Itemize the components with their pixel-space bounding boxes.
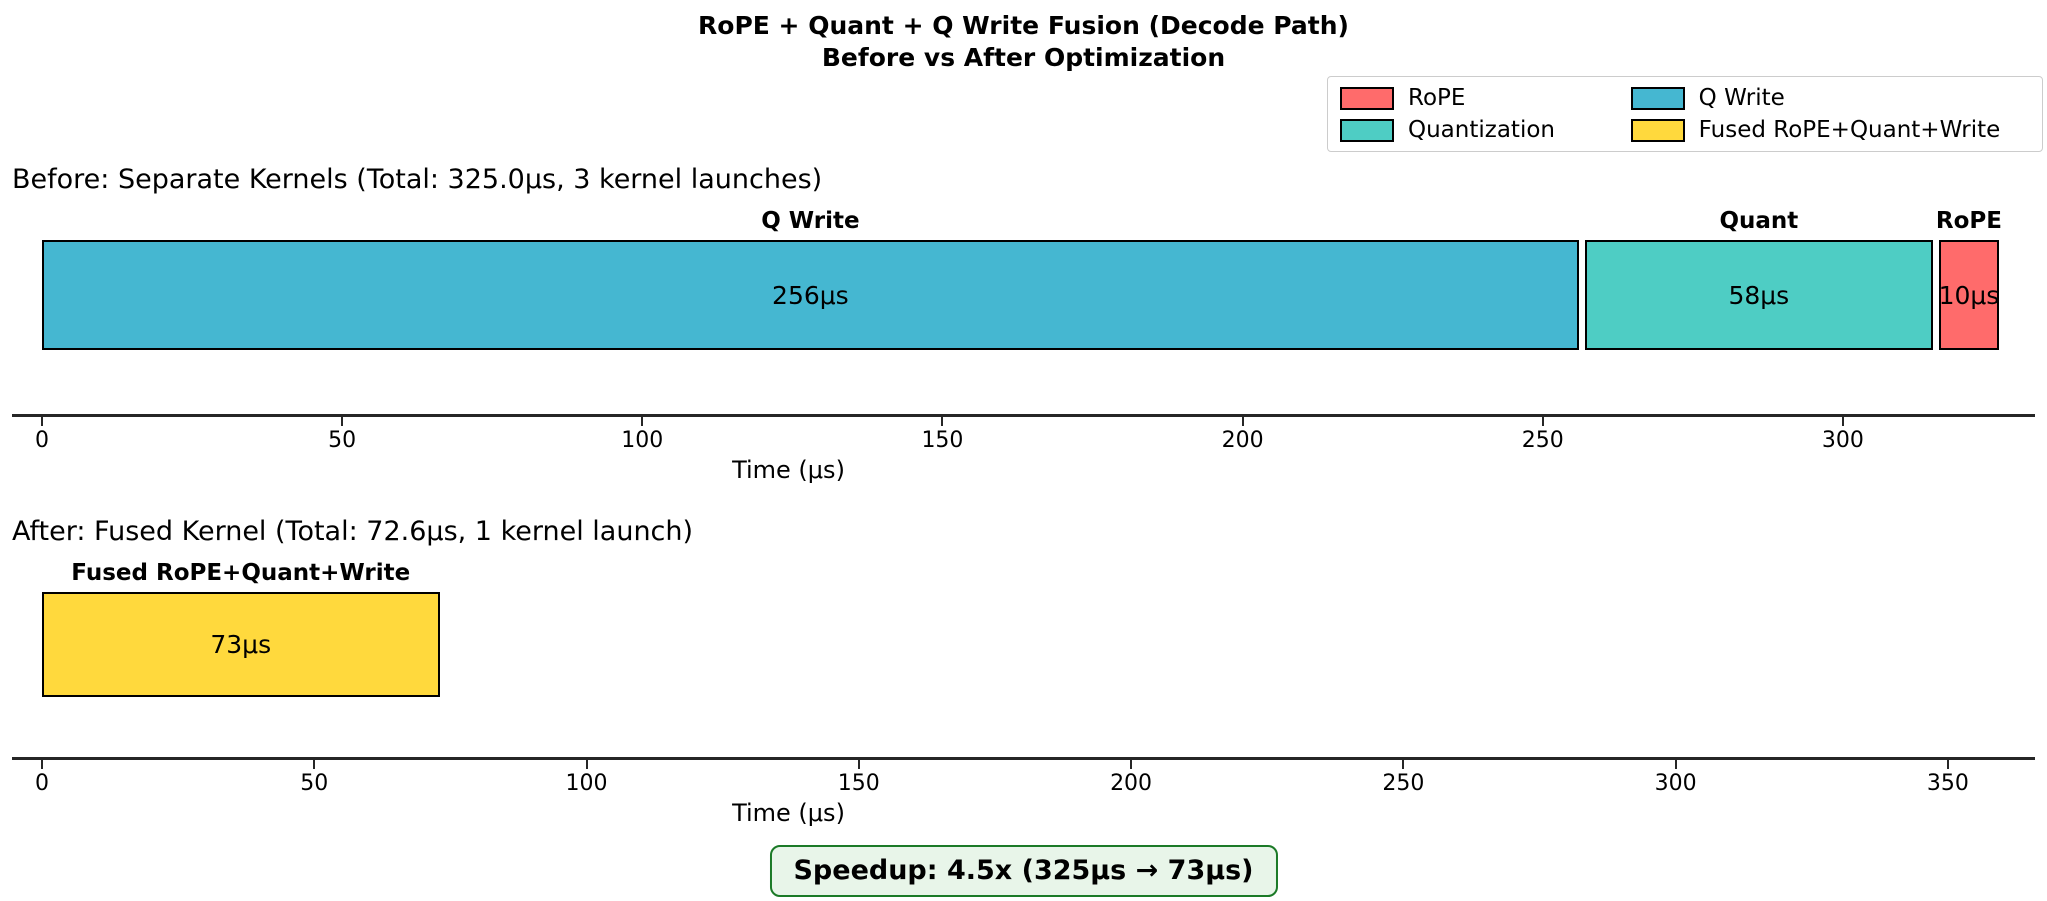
legend-entry-rope: RoPE xyxy=(1340,85,1587,111)
legend-entry-quantization: Quantization xyxy=(1340,117,1587,143)
bar-top-label: RoPE xyxy=(1936,208,2002,234)
axis-line-before xyxy=(12,414,2035,417)
x-tick-label: 150 xyxy=(921,428,963,453)
x-tick xyxy=(1542,417,1544,426)
bar-segment: 256μs xyxy=(42,240,1579,350)
panel-heading-after: After: Fused Kernel (Total: 72.6μs, 1 ke… xyxy=(12,516,693,547)
axis-line-after xyxy=(12,757,2035,760)
x-tick-label: 250 xyxy=(1382,771,1424,796)
panel-heading-before: Before: Separate Kernels (Total: 325.0μs… xyxy=(12,164,822,195)
x-tick-label: 100 xyxy=(566,771,608,796)
x-tick-label: 50 xyxy=(300,771,328,796)
legend-label-rope: RoPE xyxy=(1408,85,1465,111)
legend-entry-fused: Fused RoPE+Quant+Write xyxy=(1631,117,2032,143)
x-tick-label: 350 xyxy=(1927,771,1969,796)
x-tick xyxy=(586,760,588,769)
legend-label-quantization: Quantization xyxy=(1408,117,1555,143)
chart-legend: RoPE Q Write Quantization Fused RoPE+Qua… xyxy=(1327,76,2043,152)
bar-top-label: Fused RoPE+Quant+Write xyxy=(71,560,410,586)
bars-after: 73μsFused RoPE+Quant+Write xyxy=(0,552,2047,782)
chart-canvas: RoPE + Quant + Q Write Fusion (Decode Pa… xyxy=(0,0,2047,901)
legend-label-q-write: Q Write xyxy=(1699,85,1785,111)
chart-title: RoPE + Quant + Q Write Fusion (Decode Pa… xyxy=(0,10,2047,74)
plot-area-before: 256μsQ Write58μsQuant10μsRoPE xyxy=(0,200,2047,430)
x-tick xyxy=(1675,760,1677,769)
bar-value-label: 10μs xyxy=(1939,281,2000,310)
x-tick xyxy=(1130,760,1132,769)
bar-segment: 10μs xyxy=(1939,240,1999,350)
bar-value-label: 256μs xyxy=(772,281,849,310)
x-tick xyxy=(1242,417,1244,426)
bar-top-label: Q Write xyxy=(761,208,859,234)
bar-segment: 58μs xyxy=(1585,240,1933,350)
bar-value-label: 73μs xyxy=(210,630,271,659)
x-tick-label: 100 xyxy=(621,428,663,453)
legend-entry-q-write: Q Write xyxy=(1631,85,2032,111)
x-tick xyxy=(1842,417,1844,426)
plot-area-after: 73μsFused RoPE+Quant+Write xyxy=(0,552,2047,782)
bar-value-label: 58μs xyxy=(1728,281,1789,310)
bar-top-label: Quant xyxy=(1719,208,1798,234)
legend-swatch-q-write xyxy=(1631,87,1685,110)
x-tick xyxy=(1402,760,1404,769)
x-tick-label: 150 xyxy=(838,771,880,796)
x-tick-label: 50 xyxy=(328,428,356,453)
axis-title-before: Time (μs) xyxy=(0,456,1812,484)
x-tick xyxy=(41,760,43,769)
x-tick-label: 250 xyxy=(1522,428,1564,453)
x-tick xyxy=(858,760,860,769)
x-tick xyxy=(313,760,315,769)
x-tick-label: 0 xyxy=(35,771,49,796)
x-tick-label: 300 xyxy=(1822,428,1864,453)
x-tick-label: 200 xyxy=(1110,771,1152,796)
speedup-badge: Speedup: 4.5x (325μs → 73μs) xyxy=(769,845,1277,897)
x-tick xyxy=(641,417,643,426)
bars-before: 256μsQ Write58μsQuant10μsRoPE xyxy=(0,200,2047,430)
x-tick-label: 300 xyxy=(1655,771,1697,796)
legend-label-fused: Fused RoPE+Quant+Write xyxy=(1699,117,2001,143)
legend-swatch-rope xyxy=(1340,87,1394,110)
x-tick xyxy=(1947,760,1949,769)
x-tick xyxy=(341,417,343,426)
x-axis-before: Time (μs) 050100150200250300 xyxy=(0,414,2047,484)
x-tick-label: 0 xyxy=(35,428,49,453)
x-axis-after: Time (μs) 050100150200250300350 xyxy=(0,757,2047,827)
axis-title-after: Time (μs) xyxy=(0,799,1812,827)
bar-segment: 73μs xyxy=(42,592,440,697)
legend-swatch-fused xyxy=(1631,119,1685,142)
legend-swatch-quantization xyxy=(1340,119,1394,142)
x-tick xyxy=(41,417,43,426)
x-tick-label: 200 xyxy=(1222,428,1264,453)
x-tick xyxy=(941,417,943,426)
